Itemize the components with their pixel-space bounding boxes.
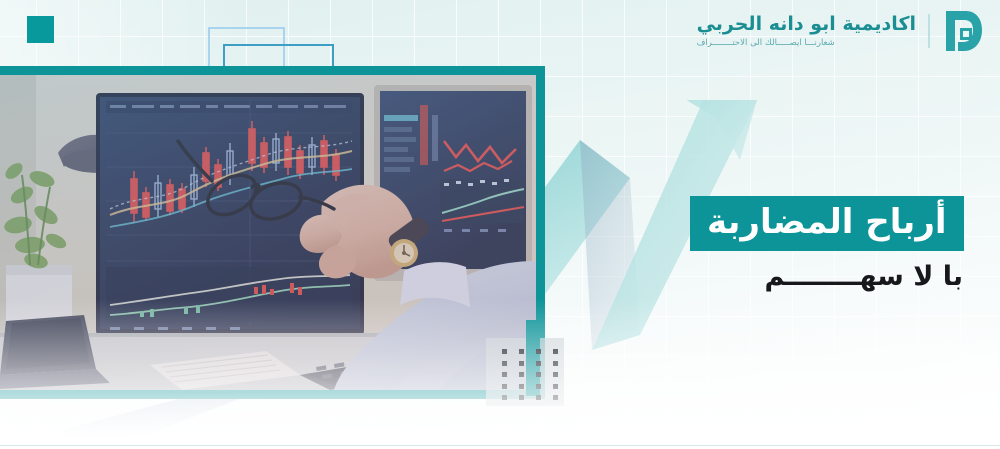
- logo-tagline: شعارنـــا ايصـــــالك الى الاحتــــــــر…: [697, 39, 835, 48]
- bottom-divider: [0, 445, 1000, 446]
- teal-square-decoration: [27, 16, 54, 43]
- promo-banner: اكاديمية ابو دانه الحربي شعارنـــا ايصــ…: [0, 0, 1000, 449]
- subheadline-text: با لا سهــــــــم: [764, 262, 963, 292]
- headline-banner: أرباح المضاربة: [690, 196, 964, 251]
- academy-logo[interactable]: اكاديمية ابو دانه الحربي شعارنـــا ايصــ…: [697, 8, 984, 54]
- background-bottom-fade: [0, 299, 1000, 449]
- logo-divider: [928, 14, 930, 48]
- academy-monogram-icon: [942, 8, 984, 54]
- headline-text: أرباح المضاربة: [707, 203, 947, 242]
- logo-title: اكاديمية ابو دانه الحربي: [697, 15, 916, 34]
